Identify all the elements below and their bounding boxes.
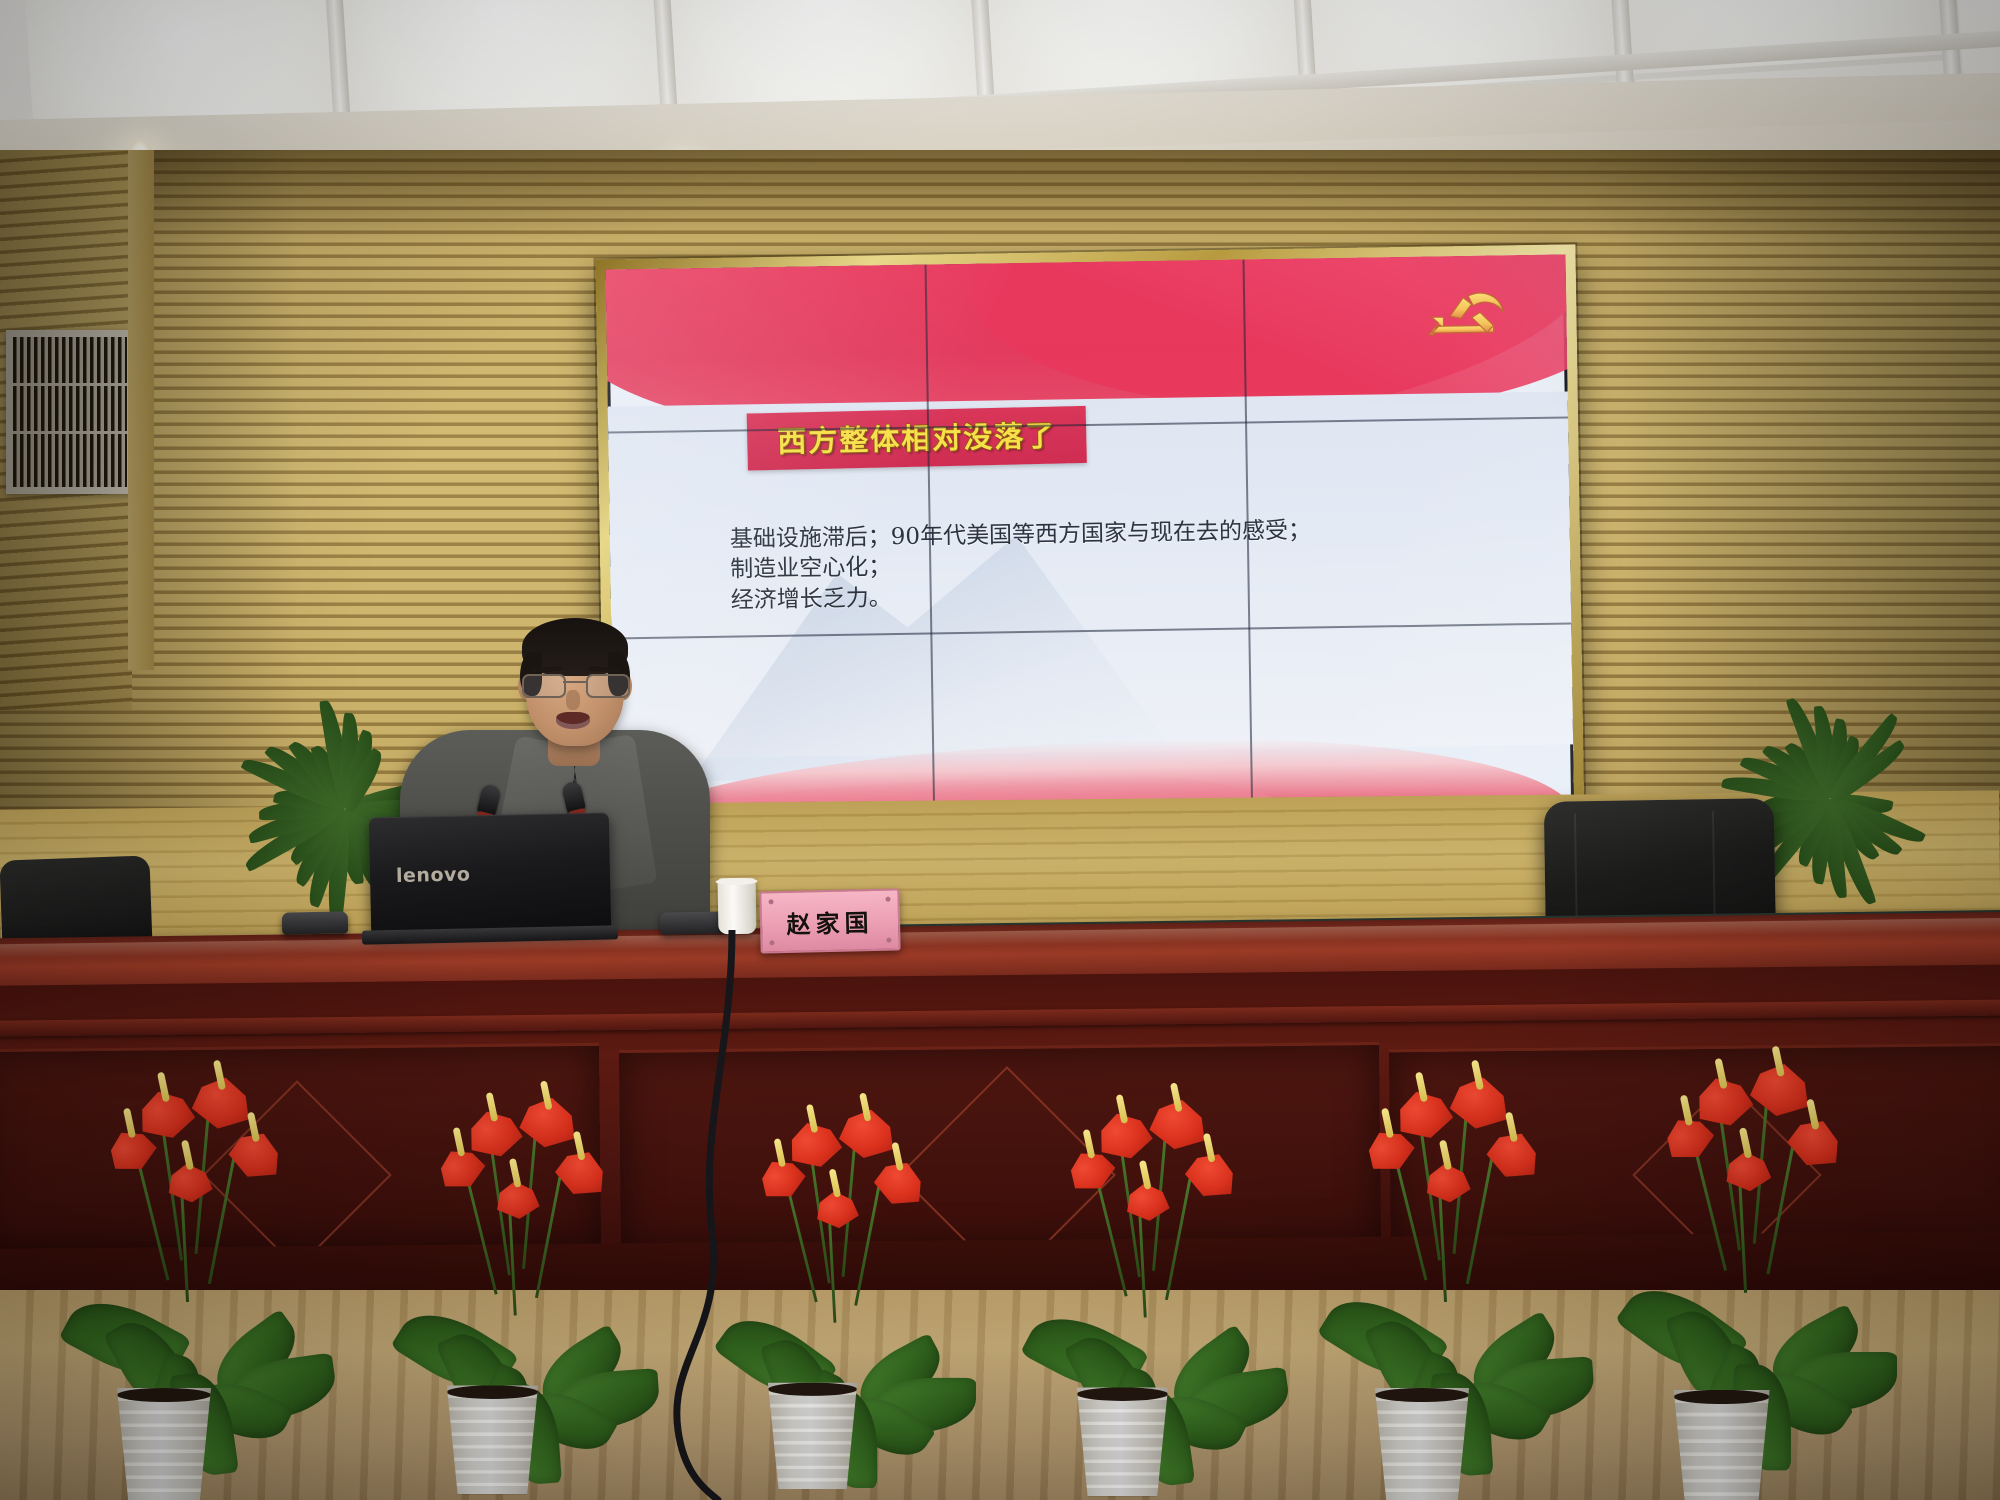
anthurium-stem: [1466, 1159, 1493, 1284]
anthurium-stem: [180, 1186, 189, 1302]
anthurium-stem: [465, 1173, 498, 1295]
anthurium-spadix: [181, 1140, 194, 1171]
anthurium-stem: [1165, 1179, 1191, 1300]
anthurium-spadix: [829, 1168, 841, 1197]
anthurium-stem: [136, 1156, 170, 1281]
anthurium-stem: [854, 1187, 880, 1306]
pot-soil: [117, 1388, 211, 1402]
laptop-brand-logo: lenovo: [396, 863, 471, 887]
anthurium-stem: [508, 1203, 517, 1315]
anthurium-plant: [1014, 1063, 1259, 1496]
slide-title-banner: 西方整体相对没落了: [747, 406, 1087, 471]
anthurium-spadix: [1739, 1127, 1752, 1158]
anthurium-stem: [1766, 1147, 1794, 1275]
anthurium-spadix: [509, 1158, 522, 1188]
speaker-mouth: [556, 712, 590, 729]
anthurium-stem: [535, 1177, 561, 1298]
flower-pot-ribs: [1366, 1388, 1478, 1500]
anthurium-plant: [52, 1040, 312, 1500]
anthurium-stem: [1095, 1175, 1128, 1297]
flower-pot: [1366, 1388, 1478, 1500]
conference-room-photo: 西方整体相对没落了 基础设施滞后；90年代美国等西方国家与现在去的感受； 制造业…: [0, 0, 2000, 1500]
pot-soil: [768, 1383, 857, 1396]
anthurium-stem: [208, 1159, 235, 1284]
anthurium-plant: [1310, 1040, 1570, 1500]
anthurium-stem: [1438, 1186, 1447, 1302]
flower-pot-ribs: [1664, 1390, 1778, 1500]
anthurium-stem: [828, 1213, 837, 1323]
anthurium-stem: [1138, 1205, 1147, 1317]
pot-soil: [1375, 1388, 1469, 1402]
anthurium-stem: [1738, 1175, 1747, 1293]
microphone-base-left: [282, 911, 348, 934]
cpc-hammer-sickle-emblem: [1413, 278, 1514, 352]
slide-body-text: 基础设施滞后；90年代美国等西方国家与现在去的感受； 制造业空心化； 经济增长乏…: [730, 511, 1557, 616]
anthurium-plant: [1607, 1026, 1877, 1500]
flower-pot: [1664, 1390, 1778, 1500]
video-wall-frame: 西方整体相对没落了 基础设施滞后；90年代美国等西方国家与现在去的感受； 制造业…: [595, 244, 1584, 849]
anthurium-stem: [1693, 1143, 1728, 1271]
anthurium-plant: [384, 1061, 629, 1494]
presentation-screen[interactable]: 西方整体相对没落了 基础设施滞后；90年代美国等西方国家与现在去的感受； 制造业…: [606, 254, 1575, 839]
anthurium-spadix: [1439, 1140, 1452, 1171]
anthurium-plant: [706, 1074, 941, 1489]
speaker-nose: [566, 690, 580, 710]
anthurium-stem: [786, 1184, 818, 1303]
flower-pot: [108, 1388, 220, 1500]
anthurium-stem: [1394, 1156, 1428, 1281]
paper-cup[interactable]: [718, 878, 757, 935]
anthurium-spadix: [1139, 1160, 1152, 1190]
flower-pot-ribs: [108, 1388, 220, 1500]
laptop[interactable]: lenovo: [369, 812, 611, 935]
